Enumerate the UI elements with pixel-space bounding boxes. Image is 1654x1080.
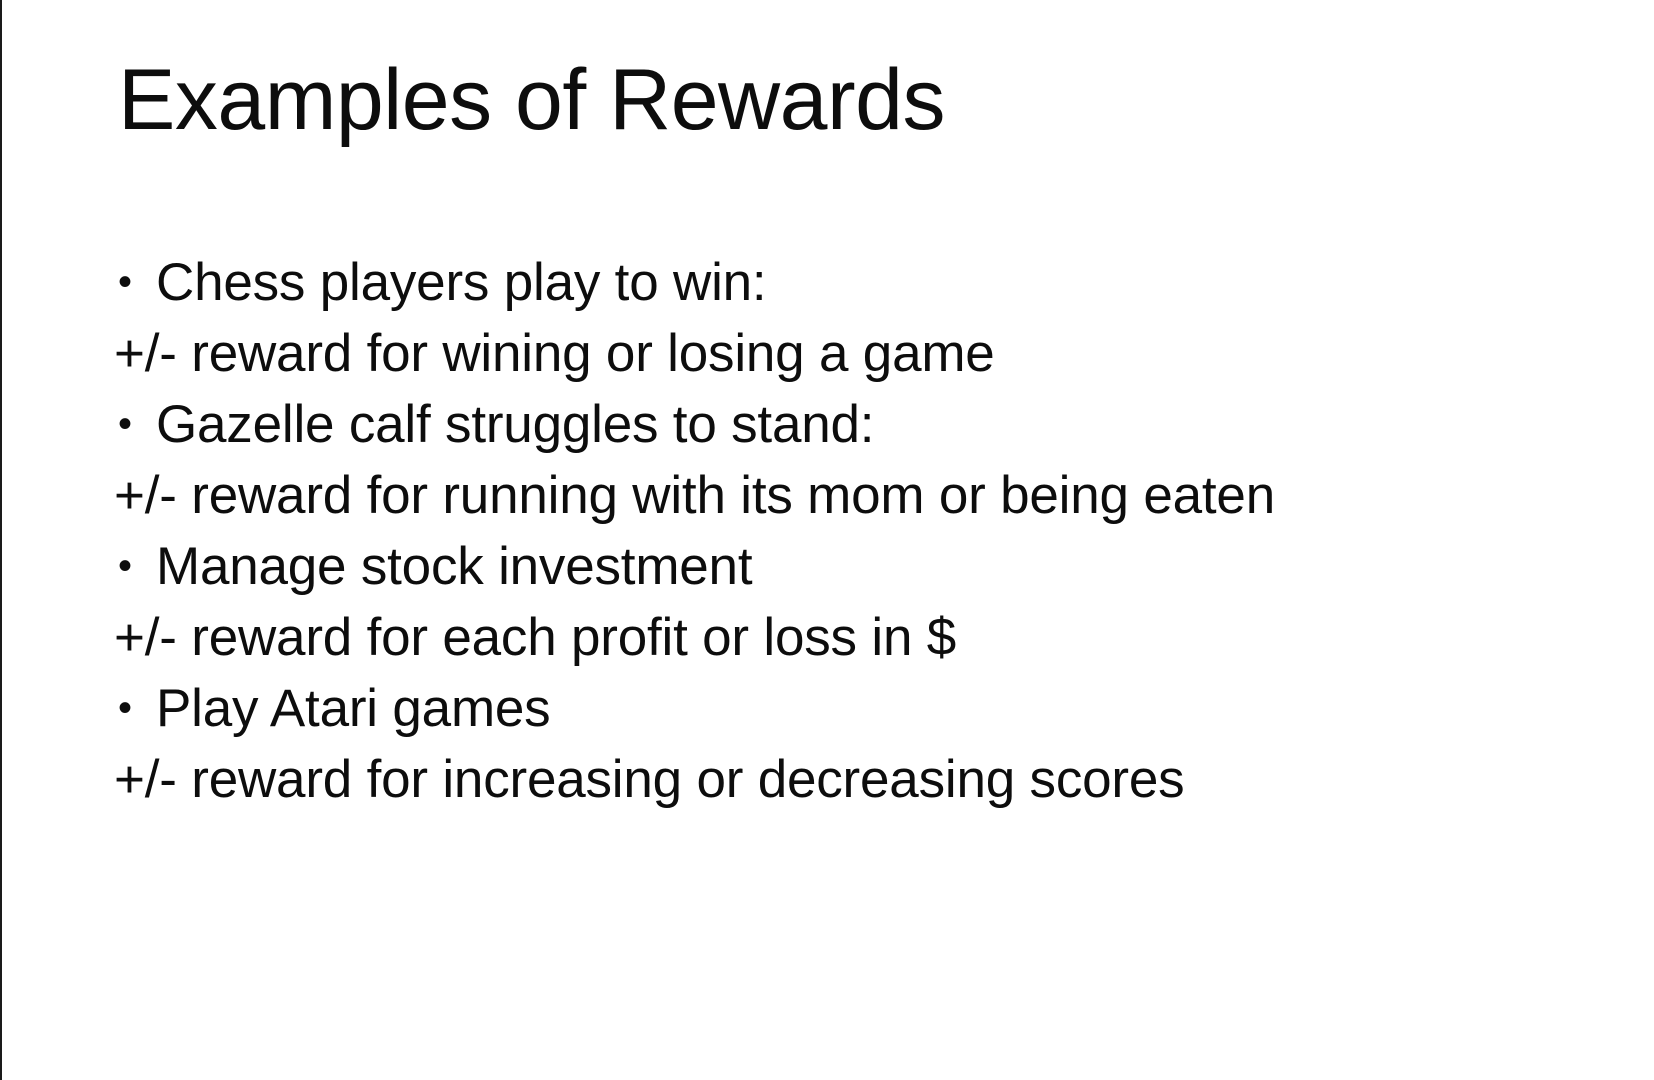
slide-canvas: Examples of Rewards • Chess players play… (0, 0, 1654, 1080)
list-item: • Play Atari games (114, 673, 1574, 744)
list-item-label: +/- reward for increasing or decreasing … (114, 750, 1184, 809)
bullet-icon: • (118, 673, 148, 744)
list-item-label: +/- reward for wining or losing a game (114, 324, 995, 383)
list-item-label: Play Atari games (156, 679, 550, 738)
list-item-label: +/- reward for running with its mom or b… (114, 466, 1275, 525)
list-item: • Manage stock investment (114, 531, 1574, 602)
bullet-icon: • (118, 531, 148, 602)
list-item: • Chess players play to win: (114, 247, 1574, 318)
list-item-label: +/- reward for each profit or loss in $ (114, 608, 956, 667)
list-item: +/- reward for increasing or decreasing … (114, 744, 1574, 815)
list-item-label: Manage stock investment (156, 537, 752, 596)
list-item-label: Gazelle calf struggles to stand: (156, 395, 874, 454)
list-item: +/- reward for running with its mom or b… (114, 460, 1574, 531)
bullet-icon: • (118, 389, 148, 460)
page-title: Examples of Rewards (118, 48, 1538, 152)
bullet-icon: • (118, 247, 148, 318)
list-item-label: Chess players play to win: (156, 253, 766, 312)
list-item: +/- reward for wining or losing a game (114, 318, 1574, 389)
list-item: • Gazelle calf struggles to stand: (114, 389, 1574, 460)
bullet-list: • Chess players play to win: +/- reward … (114, 247, 1574, 815)
list-item: +/- reward for each profit or loss in $ (114, 602, 1574, 673)
